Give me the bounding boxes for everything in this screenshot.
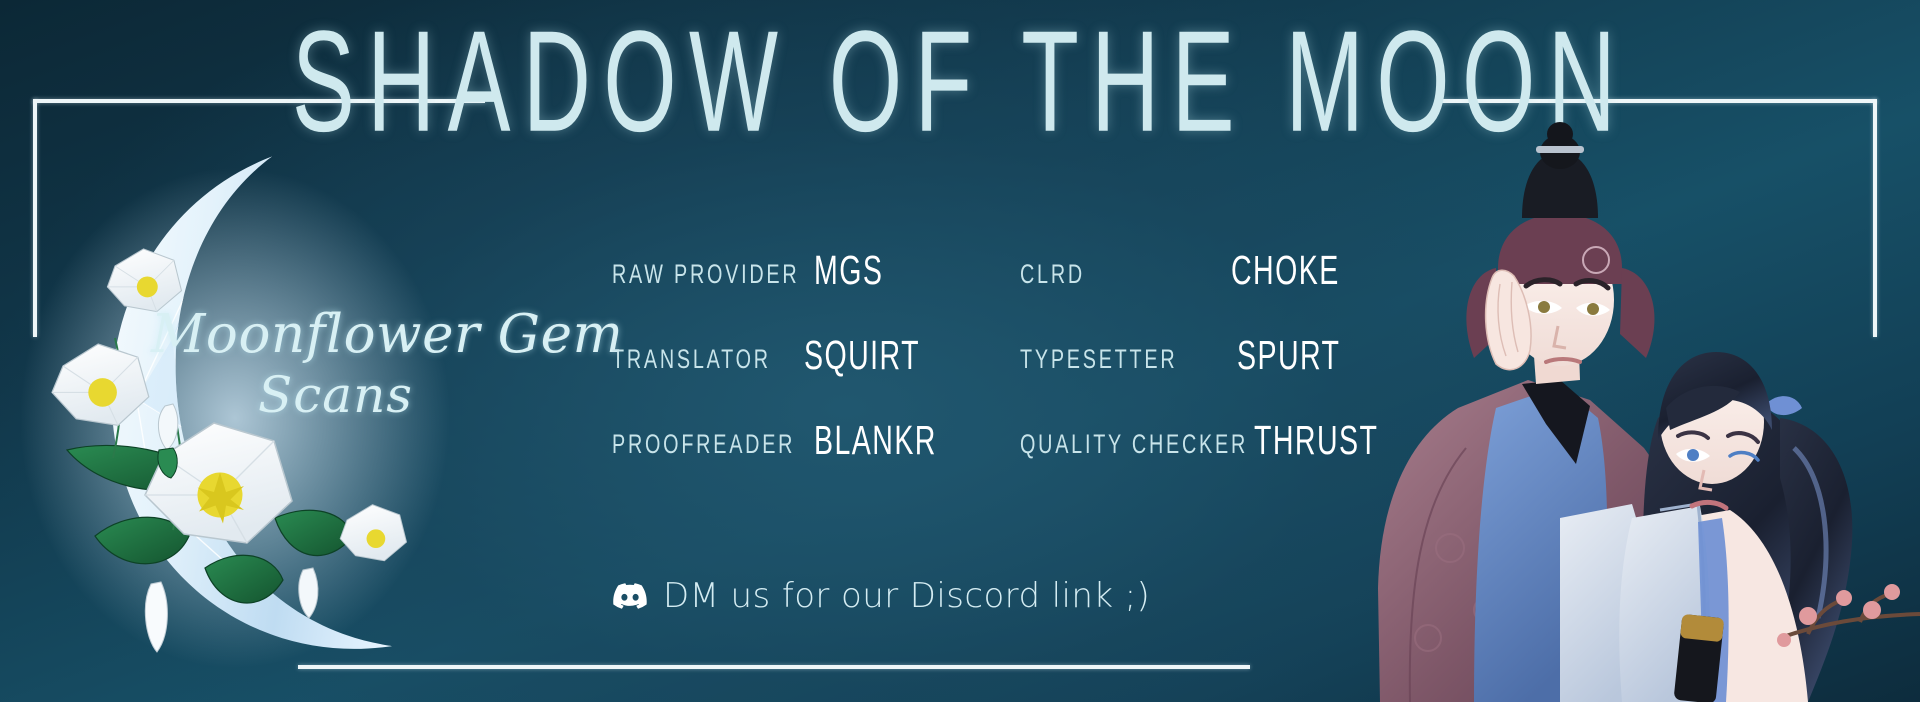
credit-row: RAW PROVIDER MGS xyxy=(612,252,942,337)
scanlation-logo: Moonflower Gem Scans xyxy=(55,138,565,678)
credit-label: TRANSLATOR xyxy=(612,344,775,375)
credit-value: BLANKR xyxy=(814,418,937,465)
discord-icon xyxy=(613,583,647,609)
credits-column-left: RAW PROVIDER MGS TRANSLATOR SQUIRT PROOF… xyxy=(612,252,942,507)
credit-value: SQUIRT xyxy=(804,333,920,380)
discord-text: DM us for our Discord link ;) xyxy=(663,576,1150,616)
credit-label: RAW PROVIDER xyxy=(612,259,784,290)
credit-value: MGS xyxy=(814,248,883,295)
credit-row: PROOFREADER BLANKR xyxy=(612,422,942,507)
frame-left-rule xyxy=(33,99,37,337)
credits-banner: SHADOW OF THE MOON xyxy=(0,0,1920,702)
character-artwork xyxy=(1260,118,1920,702)
discord-invite[interactable]: DM us for our Discord link ;) xyxy=(613,576,1150,616)
credit-label: PROOFREADER xyxy=(612,429,784,460)
credit-label: TYPESETTER xyxy=(1020,344,1205,375)
credit-row: TRANSLATOR SQUIRT xyxy=(612,337,942,422)
credit-label: QUALITY CHECKER xyxy=(1020,429,1220,460)
female-character xyxy=(1619,352,1852,702)
credit-label: CLRD xyxy=(1020,259,1199,290)
